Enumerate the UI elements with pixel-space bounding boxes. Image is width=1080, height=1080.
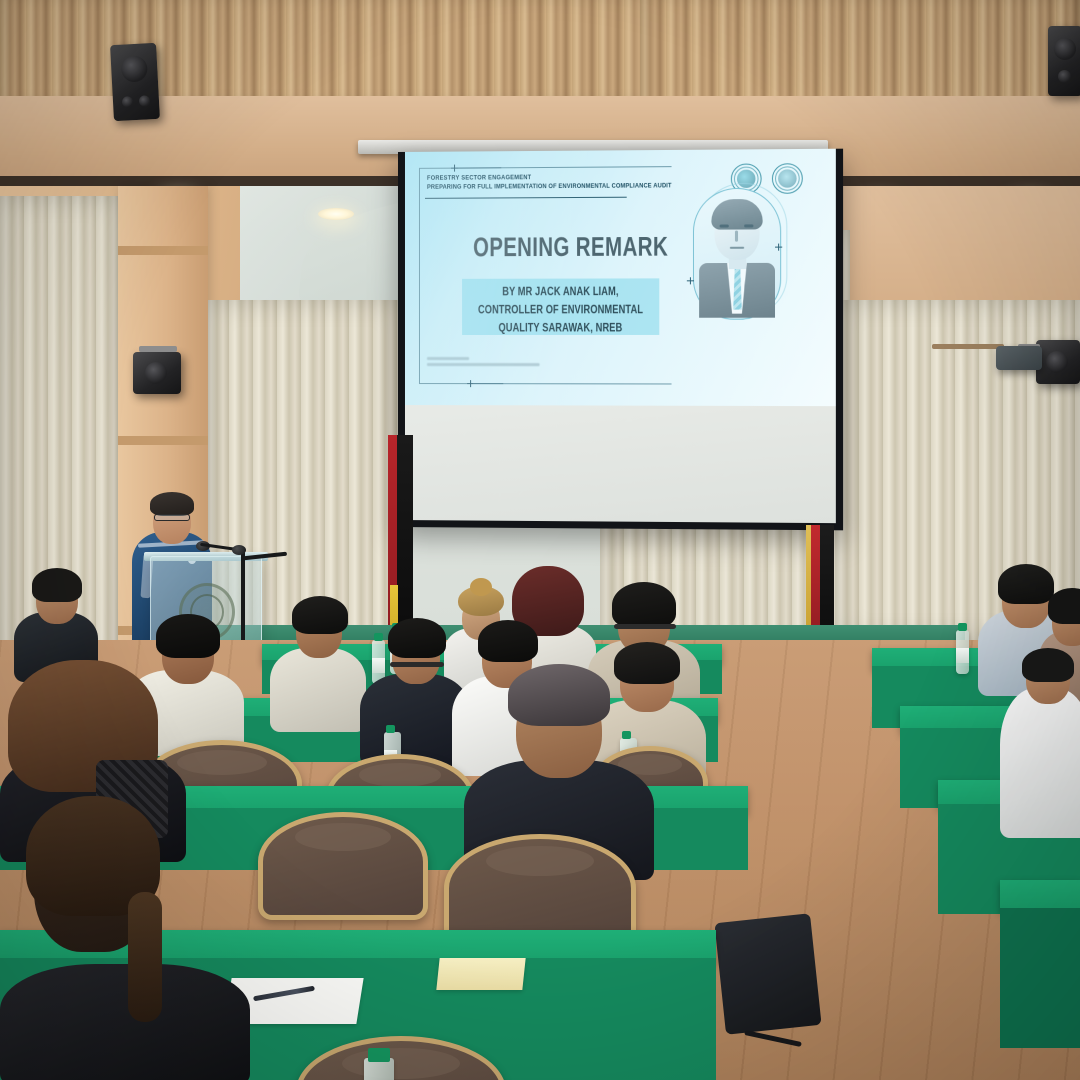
slide-header-line1: FORESTRY SECTOR ENGAGEMENT [427,173,664,182]
audience-member [270,596,366,726]
banquet-chair [296,1036,506,1080]
slide-header: FORESTRY SECTOR ENGAGEMENT PREPARING FOR… [427,173,682,191]
ceiling-projector [996,346,1042,370]
table-skirt [1000,908,1080,1048]
projected-slide: FORESTRY SECTOR ENGAGEMENT PREPARING FOR… [405,149,836,406]
wall-speaker-icon [1036,340,1080,384]
slide-byline-line2: CONTROLLER OF ENVIRONMENTAL [472,305,650,317]
banquet-chair [258,812,428,920]
slide-byline-box: BY MR JACK ANAK LIAM, CONTROLLER OF ENVI… [462,278,659,335]
audience-member-front [0,796,250,1080]
slide-footer-note [427,357,540,369]
wall-speaker-icon [110,43,160,121]
downlight [318,208,354,220]
backpack [714,913,821,1034]
speaker-portrait-illustration [693,188,781,320]
wall-speaker-icon [1048,26,1080,96]
wall-speaker-icon [133,352,181,394]
slide-title: OPENING REMARK [473,230,651,263]
water-bottle [956,630,969,674]
projector-mount-arm [932,344,1004,349]
note-card [436,958,525,990]
microphone-head-icon [232,545,246,555]
slide-decor-frame [419,166,672,384]
slide-byline-line3: QUALITY SARAWAK, NREB [472,323,650,335]
slide-byline-line1: BY MR JACK ANAK LIAM, [472,287,650,299]
slide-header-line2: PREPARING FOR FULL IMPLEMENTATION OF ENV… [427,182,664,190]
audience-member [1000,648,1080,828]
water-bottle [364,1058,394,1080]
conference-hall-photo: FORESTRY SECTOR ENGAGEMENT PREPARING FOR… [0,0,1080,1080]
projection-screen: FORESTRY SECTOR ENGAGEMENT PREPARING FOR… [398,149,843,531]
